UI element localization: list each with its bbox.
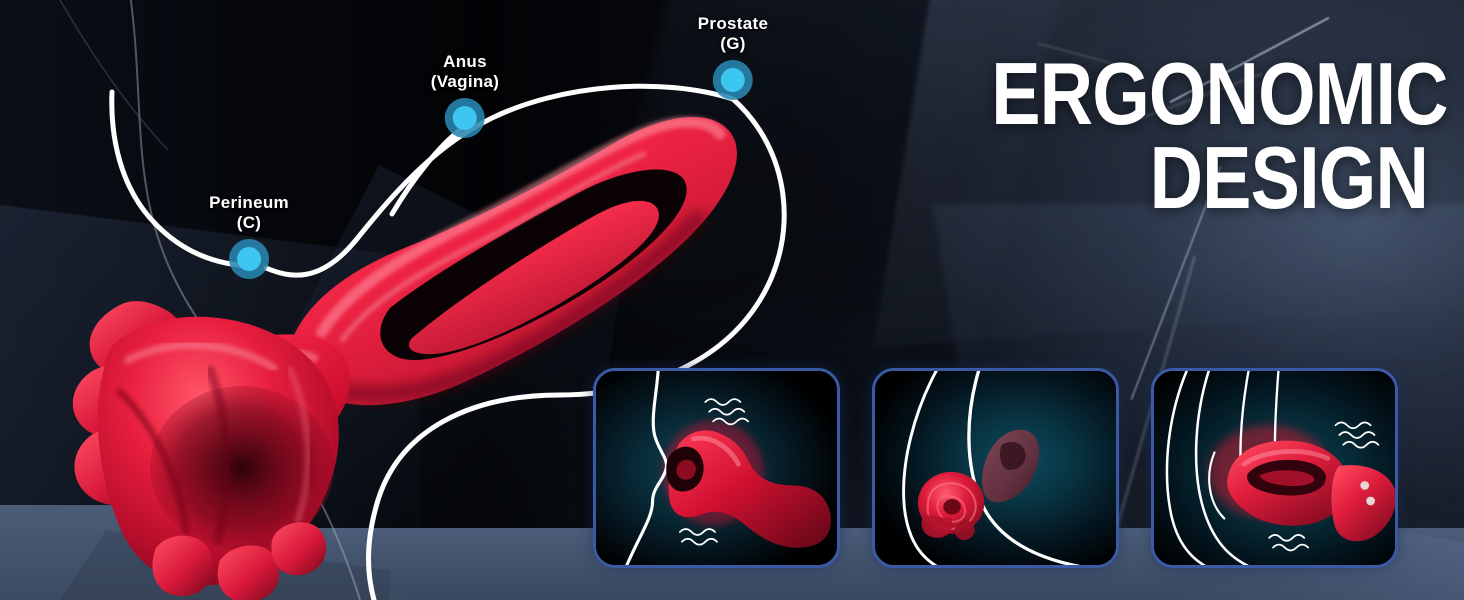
callout-perineum[interactable]: Perineum (C) xyxy=(209,193,289,279)
product-banner: Perineum (C) Anus (Vagina) Prostate (G) … xyxy=(0,0,1464,600)
callout-perineum-label: Perineum (C) xyxy=(209,193,289,232)
callout-perineum-line2: (C) xyxy=(237,213,262,232)
usage-panel-oral[interactable] xyxy=(593,368,840,568)
vibration-wave-right xyxy=(1335,422,1378,447)
title-line-design: DESIGN xyxy=(991,136,1428,220)
callout-prostate-label: Prostate (G) xyxy=(698,14,768,53)
usage-panel-rose-scene xyxy=(875,371,1116,565)
callout-perineum-line1: Perineum xyxy=(209,193,289,212)
callout-anus-vagina-line2: (Vagina) xyxy=(431,72,500,91)
usage-panel-group xyxy=(593,368,1398,568)
callout-prostate[interactable]: Prostate (G) xyxy=(698,14,768,100)
callout-prostate-dot-icon[interactable] xyxy=(713,60,753,100)
vibration-wave-bottom xyxy=(680,529,717,545)
vibration-wave-bottom-3 xyxy=(1269,535,1308,551)
callout-anus-vagina-label: Anus (Vagina) xyxy=(431,52,500,91)
callout-anus-vagina-line1: Anus xyxy=(443,52,487,71)
callout-prostate-line1: Prostate xyxy=(698,14,768,33)
usage-panel-rose[interactable] xyxy=(872,368,1119,568)
callout-perineum-dot-icon[interactable] xyxy=(229,239,269,279)
callout-anus-vagina-dot-icon[interactable] xyxy=(445,98,485,138)
title-line-ergonomic: ERGONOMIC xyxy=(991,52,1428,136)
usage-panel-insert[interactable] xyxy=(1151,368,1398,568)
usage-panel-oral-scene xyxy=(596,371,837,565)
usage-panel-insert-scene xyxy=(1154,371,1395,565)
device-button-bottom-icon xyxy=(1366,497,1375,506)
device-button-top-icon xyxy=(1360,481,1369,490)
rose-head xyxy=(918,472,984,540)
callout-prostate-line2: (G) xyxy=(720,34,745,53)
page-title: ERGONOMIC DESIGN xyxy=(908,52,1428,221)
callout-anus-vagina[interactable]: Anus (Vagina) xyxy=(431,52,500,138)
